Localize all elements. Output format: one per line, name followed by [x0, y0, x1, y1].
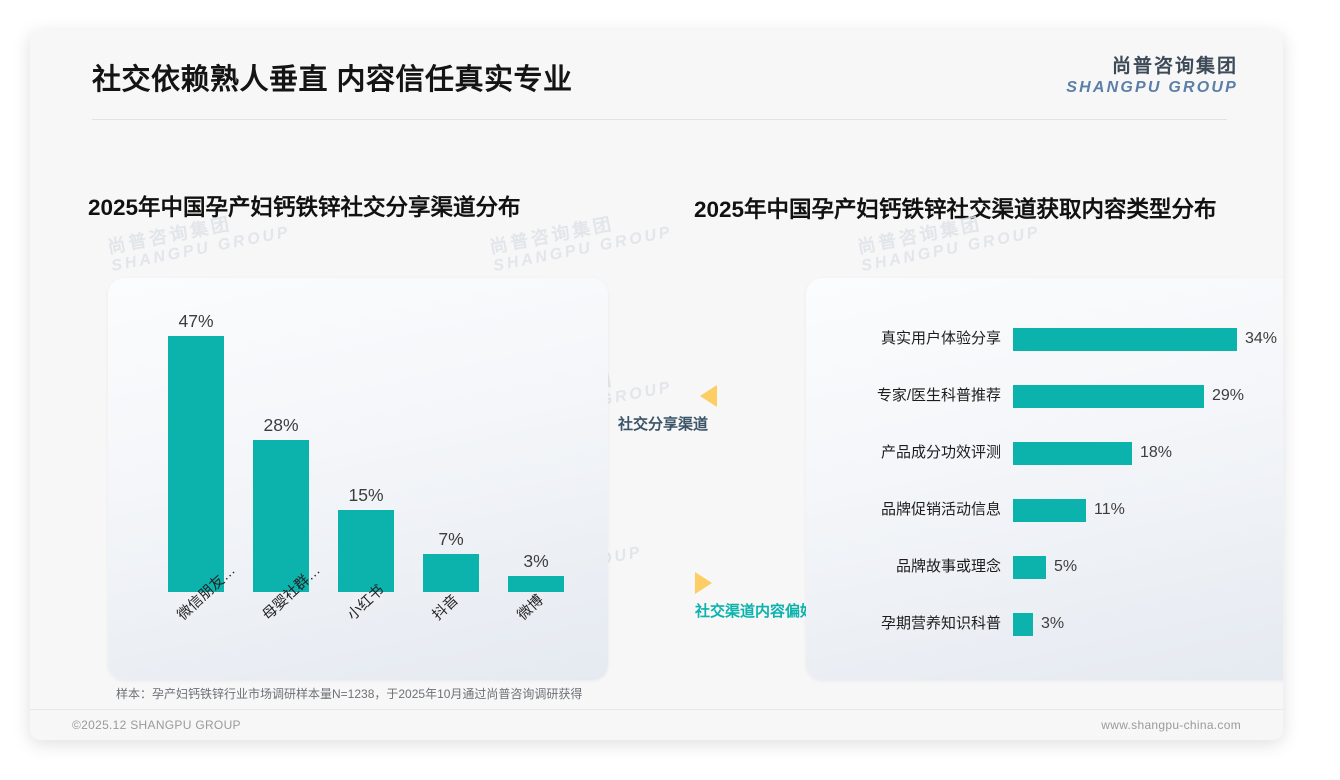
- copyright-text: ©2025.12 SHANGPU GROUP: [72, 718, 241, 732]
- bar-row: 专家/医生科普推荐29%: [806, 379, 1283, 413]
- column-value-label: 3%: [466, 551, 606, 572]
- bar-fill: [1013, 613, 1033, 636]
- annotation-content-preference-label: 社交渠道内容偏好: [695, 603, 815, 620]
- bar-fill: [1013, 556, 1046, 579]
- slide-header: 社交依赖熟人垂直 内容信任真实专业 尚普咨询集团 SHANGPU GROUP: [30, 30, 1283, 125]
- column-bar: [338, 510, 394, 592]
- bar-value-label: 3%: [1041, 607, 1064, 641]
- page-title: 社交依赖熟人垂直 内容信任真实专业: [92, 56, 573, 98]
- column-value-label: 7%: [381, 529, 521, 550]
- header-divider: [92, 119, 1227, 120]
- column-bar: [168, 336, 224, 592]
- annotation-share-channel-label: 社交分享渠道: [618, 416, 708, 433]
- bar-fill: [1013, 499, 1086, 522]
- bar-value-label: 11%: [1094, 493, 1125, 527]
- column-category-wrap: 微博: [512, 605, 568, 606]
- bar-row: 真实用户体验分享34%: [806, 322, 1283, 356]
- column-bar: [508, 576, 564, 592]
- column-chart: 47%微信朋友…28%母婴社群…15%小红书7%抖音3%微博: [108, 278, 608, 680]
- bar-category-label: 专家/医生科普推荐: [806, 379, 1001, 413]
- sample-footnote: 样本：孕产妇钙铁锌行业市场调研样本量N=1238，于2025年10月通过尚普咨询…: [116, 685, 582, 702]
- column-category-wrap: 微信朋友…: [172, 605, 228, 606]
- footer-divider: [30, 709, 1283, 710]
- brand-logo: 尚普咨询集团 SHANGPU GROUP: [1066, 56, 1238, 97]
- brand-logo-en: SHANGPU GROUP: [1066, 79, 1238, 97]
- bar-value-label: 5%: [1054, 550, 1077, 584]
- bar-fill: [1013, 385, 1204, 408]
- website-url: www.shangpu-china.com: [1101, 718, 1241, 732]
- watermark-line-en: SHANGPU GROUP: [110, 223, 292, 276]
- bar-row: 品牌故事或理念5%: [806, 550, 1283, 584]
- left-chart-title: 2025年中国孕产妇钙铁锌社交分享渠道分布: [88, 190, 521, 222]
- brand-logo-cn: 尚普咨询集团: [1066, 56, 1238, 78]
- column-category-wrap: 小红书: [342, 605, 398, 606]
- bar-category-label: 孕期营养知识科普: [806, 607, 1001, 641]
- right-chart-title: 2025年中国孕产妇钙铁锌社交渠道获取内容类型分布: [694, 192, 1217, 224]
- bar-value-label: 34%: [1245, 322, 1277, 356]
- right-chart-panel: 真实用户体验分享34%专家/医生科普推荐29%产品成分功效评测18%品牌促销活动…: [806, 278, 1283, 680]
- column-category-label: 微博: [512, 589, 548, 624]
- slide-canvas: 社交依赖熟人垂直 内容信任真实专业 尚普咨询集团 SHANGPU GROUP 2…: [30, 30, 1283, 740]
- annotation-content-preference: 社交渠道内容偏好: [695, 600, 815, 621]
- bar-category-label: 真实用户体验分享: [806, 322, 1001, 356]
- bar-category-label: 产品成分功效评测: [806, 436, 1001, 470]
- bar-category-label: 品牌故事或理念: [806, 550, 1001, 584]
- left-chart-panel: 47%微信朋友…28%母婴社群…15%小红书7%抖音3%微博: [108, 278, 608, 680]
- watermark-line-en: SHANGPU GROUP: [492, 223, 674, 276]
- column-value-label: 15%: [296, 485, 436, 506]
- bar-row: 孕期营养知识科普3%: [806, 607, 1283, 641]
- bar-category-label: 品牌促销活动信息: [806, 493, 1001, 527]
- column-category-wrap: 母婴社群…: [257, 605, 313, 606]
- bar-fill: [1013, 442, 1132, 465]
- bar-row: 品牌促销活动信息11%: [806, 493, 1283, 527]
- horizontal-bar-chart: 真实用户体验分享34%专家/医生科普推荐29%产品成分功效评测18%品牌促销活动…: [806, 278, 1283, 680]
- watermark-line-en: SHANGPU GROUP: [860, 223, 1042, 276]
- bar-fill: [1013, 328, 1237, 351]
- bar-value-label: 18%: [1140, 436, 1172, 470]
- annotation-share-channel: 社交分享渠道: [618, 413, 708, 434]
- bar-row: 产品成分功效评测18%: [806, 436, 1283, 470]
- column-value-label: 28%: [211, 415, 351, 436]
- column-category-wrap: 抖音: [427, 605, 483, 606]
- triangle-left-icon: [700, 385, 717, 407]
- column-value-label: 47%: [126, 311, 266, 332]
- column-category-label: 抖音: [427, 589, 463, 624]
- bar-value-label: 29%: [1212, 379, 1244, 413]
- triangle-right-icon: [695, 572, 712, 594]
